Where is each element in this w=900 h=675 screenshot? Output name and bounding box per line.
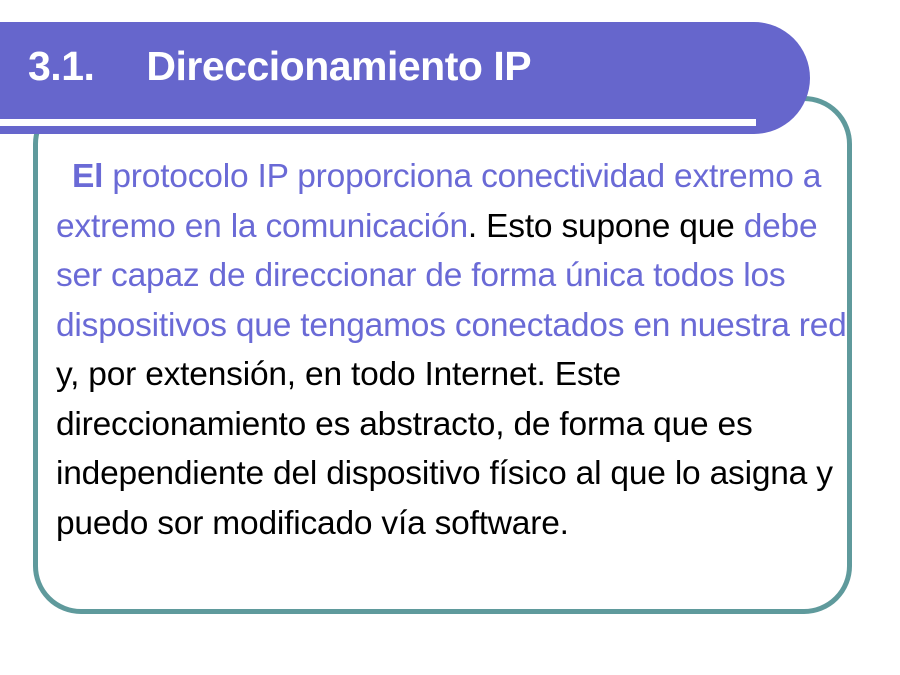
title-underline-rule — [0, 119, 756, 126]
title-section-number: 3.1. — [28, 43, 94, 90]
slide-title: 3.1. Direccionamiento IP — [0, 22, 790, 110]
title-heading-text: Direccionamiento IP — [146, 43, 531, 90]
body-paragraph: El protocolo IP proporciona conectividad… — [56, 152, 856, 548]
body-segment-0: El — [72, 158, 103, 195]
slide-canvas: 3.1. Direccionamiento IP El protocolo IP… — [0, 0, 900, 675]
body-segment-2: . Esto supone que — [468, 208, 744, 245]
body-segment-4: y, por extensión, en todo Internet. Este… — [56, 356, 833, 542]
slide-body-text: El protocolo IP proporciona conectividad… — [56, 152, 856, 548]
